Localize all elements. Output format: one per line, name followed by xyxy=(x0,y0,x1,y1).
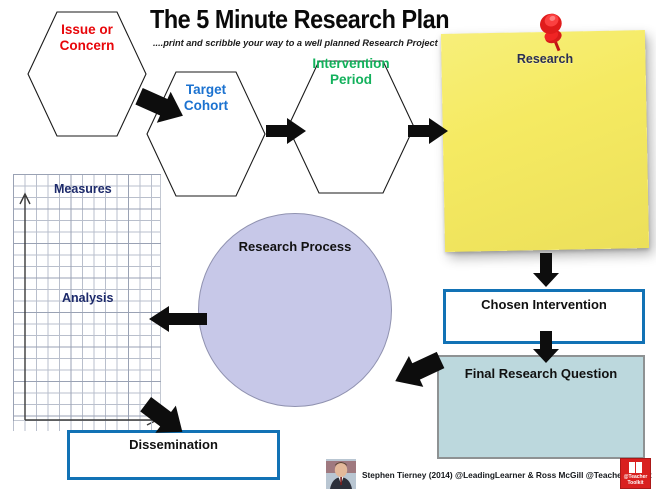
graph-measures-label: Measures xyxy=(54,182,112,196)
arrow-process-to-analysis xyxy=(148,305,208,333)
footer-credit: Stephen Tierney (2014) @LeadingLearner &… xyxy=(362,470,652,480)
research-process-label: Research Process xyxy=(199,239,391,254)
arrow-final-question-to-process xyxy=(389,350,445,392)
research-process-circle: Research Process xyxy=(198,213,392,407)
hexagon-intervention-period-label: Intervention Period xyxy=(283,56,419,88)
arrow-intervention-to-research xyxy=(407,116,449,146)
teacher-toolkit-logo-line2: Toolkit xyxy=(627,480,643,486)
hex3-line1: Intervention xyxy=(312,56,389,71)
box-final-research-question-label: Final Research Question xyxy=(437,366,645,381)
pushpin-icon xyxy=(530,10,574,56)
book-icon xyxy=(629,462,642,473)
infographic-canvas: The 5 Minute Research Plan ....print and… xyxy=(0,0,656,492)
hexagon-issue-or-concern-label: Issue or Concern xyxy=(27,22,147,54)
hex1-line2: Concern xyxy=(60,38,115,53)
arrow-graph-to-dissemination xyxy=(139,398,189,438)
box-chosen-intervention-label: Chosen Intervention xyxy=(443,297,645,312)
hex2-line2: Cohort xyxy=(184,98,228,113)
graph-analysis-label: Analysis xyxy=(62,291,113,305)
arrow-issue-to-target xyxy=(135,86,187,126)
page-subtitle: ....print and scribble your way to a wel… xyxy=(153,38,483,49)
page-title: The 5 Minute Research Plan xyxy=(150,4,447,35)
box-dissemination-label: Dissemination xyxy=(67,437,280,452)
arrow-research-to-chosen-intervention xyxy=(531,252,561,288)
hex3-line2: Period xyxy=(330,72,372,87)
arrow-target-to-intervention xyxy=(265,116,307,146)
arrow-chosen-to-final-question xyxy=(531,330,561,364)
teacher-toolkit-logo: @Teacher Toolkit xyxy=(620,458,651,489)
author-avatar xyxy=(326,459,356,489)
hex1-line1: Issue or xyxy=(61,22,113,37)
hex2-line1: Target xyxy=(186,82,226,97)
